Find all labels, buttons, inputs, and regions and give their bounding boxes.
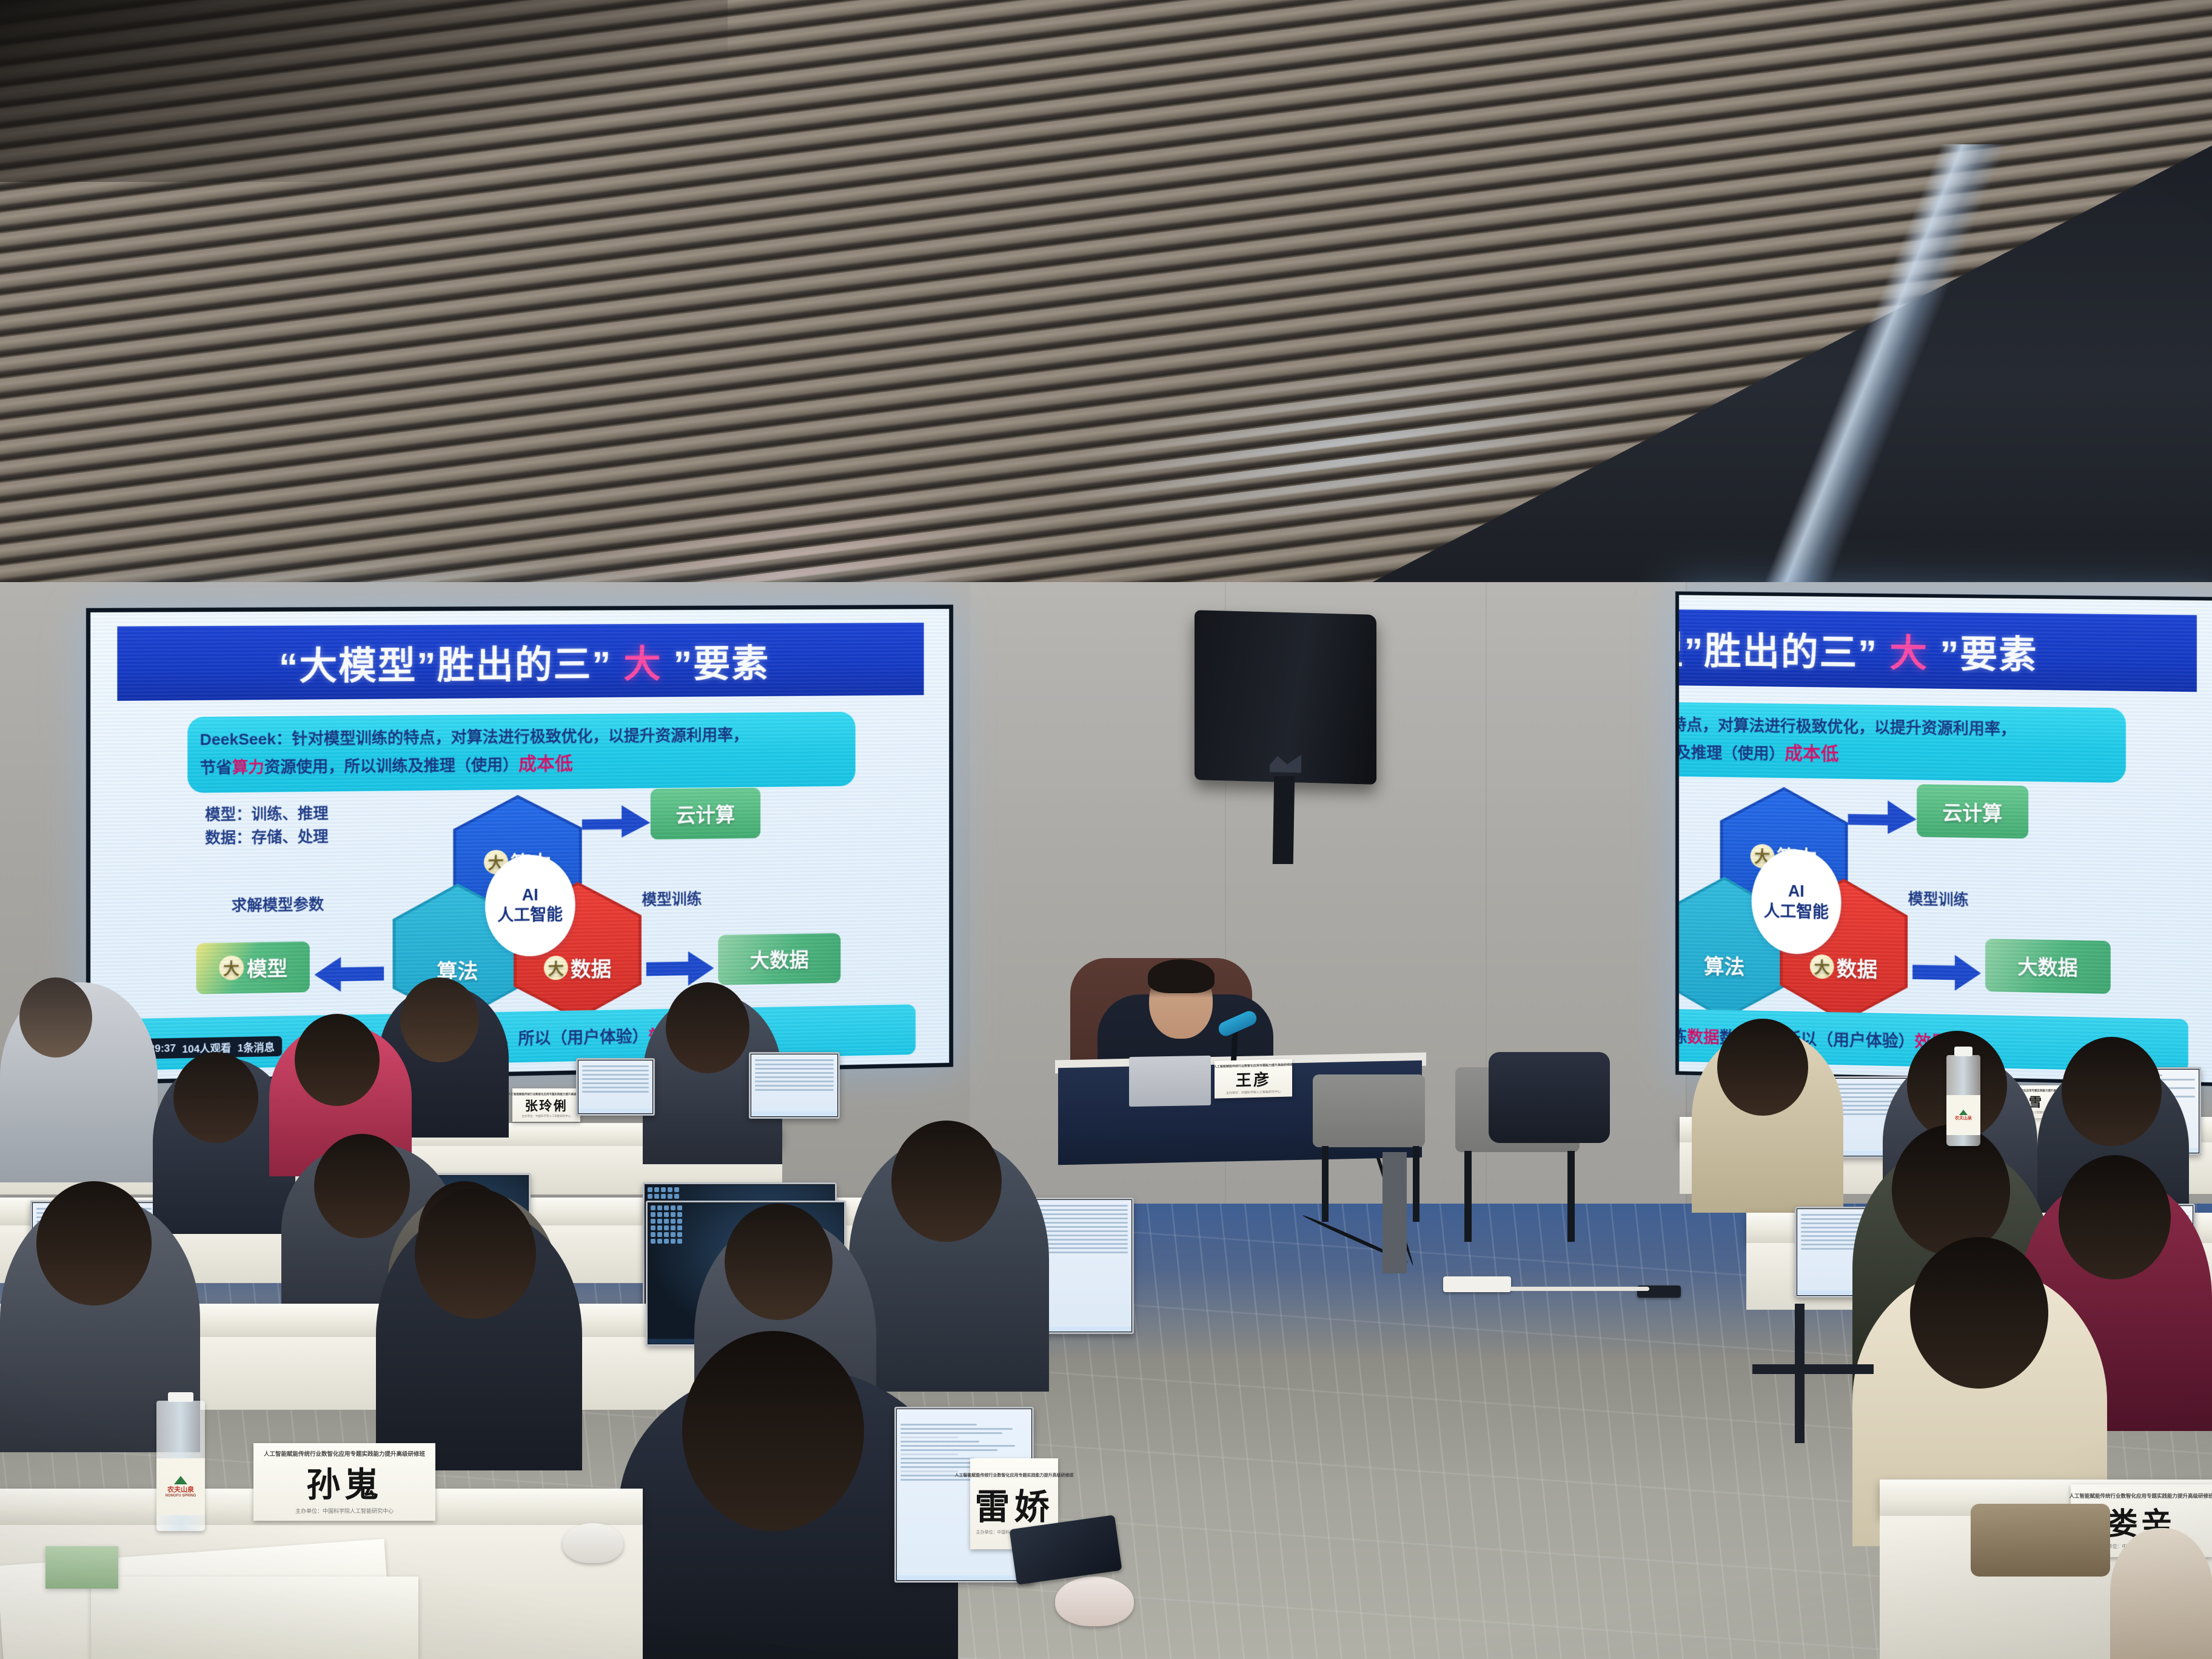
laptop-taskbar xyxy=(897,1575,1031,1580)
chair-leg xyxy=(1567,1151,1575,1242)
desktop-icon-grid[interactable] xyxy=(651,1205,682,1244)
slide-title-bar-right: “大模型”胜出的三” 大 ”要素 xyxy=(1675,606,2197,692)
projection-screen-right: “大模型”胜出的三” 大 ”要素 DeekSeek：针对模型训练的特点，对算法进… xyxy=(1675,591,2212,1086)
slide-title-right: “大模型”胜出的三” 大 ”要素 xyxy=(1675,619,2037,679)
arrow-to-cloud xyxy=(582,796,651,838)
callout-line-1: DeekSeek：针对模型训练的特点，对算法进行极致优化，以提升资源利用率， xyxy=(1675,711,2114,741)
center-ai-line2: 人工智能 xyxy=(497,905,563,927)
name-card-foreground: 人工智能赋能传统行业数智化应用专题实践能力提升高级研修班 孙嵬 主办单位：中国科… xyxy=(253,1443,435,1521)
slide-note-line-1: 模型：训练、推理 xyxy=(205,804,328,826)
soffit-highlight-edge xyxy=(1302,144,2212,617)
name-card-name: 孙嵬 xyxy=(306,1458,382,1507)
bottom-bold1: 数据 xyxy=(1687,1028,1719,1047)
slide-title-prefix: “大模型”胜出的三 xyxy=(1675,629,1858,674)
attendee-head xyxy=(400,977,479,1062)
bottle-brand: 农夫山泉 xyxy=(1955,1115,1972,1121)
slide-title-bar: “大模型”胜出的三” 大 ”要素 xyxy=(117,623,924,701)
hex-data-label: 大 数据 xyxy=(1810,952,1877,983)
da-chip-icon: 大 xyxy=(219,956,244,980)
arrow-to-cloud xyxy=(1848,790,1917,834)
hex-algorithm-label: 算法 xyxy=(1704,950,1744,980)
name-card-org: 主办单位：中国科学院人工智能研究中心 xyxy=(522,1114,571,1118)
chair-frame xyxy=(1752,1364,1874,1374)
slide-title-suffix: ”要素 xyxy=(1940,634,2037,677)
slide-callout-box-right: DeekSeek：针对模型训练的特点，对算法进行极致优化，以提升资源利用率， 节… xyxy=(1675,699,2126,783)
bottom-a: 大、训练 xyxy=(1675,1027,1687,1046)
name-card-name: 张玲俐 xyxy=(525,1096,568,1114)
attendee-head xyxy=(36,1181,152,1305)
callout-l2-b: 资源使用，所以训练及推理（使用） xyxy=(264,756,518,776)
attendee-head xyxy=(173,1052,258,1143)
power-strip xyxy=(1443,1276,1511,1292)
ceiling-shadow-left xyxy=(0,0,728,182)
computer-mouse[interactable] xyxy=(1055,1577,1134,1626)
attendee xyxy=(2110,1528,2212,1659)
name-card-event: 人工智能赋能传统行业数智化应用专题实践能力提升高级研修班 xyxy=(955,1472,1074,1478)
attendee-head xyxy=(295,1014,380,1106)
tag-big-data: 大数据 xyxy=(718,933,840,985)
bottle-cap xyxy=(168,1392,193,1402)
slide-title-highlight: 大 xyxy=(1889,633,1928,675)
callout-l2-bold2: 成本低 xyxy=(1785,743,1838,764)
laptop-screen xyxy=(751,1054,837,1116)
handout-page xyxy=(91,1577,418,1659)
power-cable xyxy=(1510,1287,1649,1291)
seminar-room-photo: “大模型”胜出的三” 大 ”要素 DeekSeek：针对模型训练的特点，对算法进… xyxy=(0,0,2212,1659)
water-bottle[interactable]: 农夫山泉 xyxy=(1946,1055,1980,1146)
laptop[interactable] xyxy=(749,1052,840,1119)
attendee-head xyxy=(415,1188,536,1319)
attendee-head xyxy=(2059,1155,2171,1279)
center-ai-line1: AI xyxy=(1788,881,1805,902)
name-card-name: 王彦 xyxy=(1236,1067,1271,1091)
wooden-chair xyxy=(1971,1504,2110,1577)
slide-title-suffix: ”要素 xyxy=(674,643,770,685)
da-chip-icon: 大 xyxy=(1810,954,1834,979)
center-ai-node: AI 人工智能 xyxy=(1752,848,1842,955)
attendee-head xyxy=(1717,1019,1808,1116)
speaker-mount-pole xyxy=(1273,776,1295,864)
slide-title-prefix: “大模型”胜出的三 xyxy=(279,644,592,688)
laptop[interactable] xyxy=(576,1058,655,1116)
name-card-name: 雷娇 xyxy=(975,1478,1054,1529)
trash-bin xyxy=(1382,1152,1407,1273)
name-card-org: 主办单位：中国科学院人工智能研究中心 xyxy=(295,1507,394,1515)
center-ai-line2: 人工智能 xyxy=(1764,901,1829,923)
callout-line-2: 节省算力资源使用，所以训练及推理（使用）成本低 xyxy=(200,749,844,780)
bottle-cap xyxy=(1954,1047,1972,1056)
arrow-to-model xyxy=(315,956,384,992)
attendee-head xyxy=(2062,1037,2162,1146)
computer-mouse[interactable] xyxy=(563,1523,623,1563)
slide-note-line-2: 数据：存储、处理 xyxy=(205,827,328,850)
bottle-label: 农夫山泉 xyxy=(1946,1095,1980,1135)
edge-label-right: 模型训练 xyxy=(1908,890,1969,911)
laptop-screen xyxy=(578,1061,652,1113)
name-card: 人工智能赋能传统行业数智化应用专题实践能力提升高级研修班 张玲俐 主办单位：中国… xyxy=(512,1088,580,1122)
slide-title: “大模型”胜出的三” 大 ”要素 xyxy=(279,633,769,691)
chair-leg xyxy=(1413,1146,1419,1222)
callout-l2-bold2: 成本低 xyxy=(518,754,573,774)
hex-data-label: 大 数据 xyxy=(544,952,611,983)
arrow-to-bigdata xyxy=(1912,954,1981,991)
attendee-head xyxy=(666,982,749,1073)
callout-line-1: DeekSeek：针对模型训练的特点，对算法进行极致优化，以提升资源利用率， xyxy=(200,724,844,751)
presenter-name-card: 人工智能赋能传统行业数智化应用专题能力提升高级研修班 王彦 主办单位：中国科学院… xyxy=(1215,1059,1292,1098)
tag-cloud-computing: 云计算 xyxy=(650,788,760,839)
mountain-logo-icon xyxy=(174,1476,187,1484)
callout-l2-a: 节省 xyxy=(200,759,232,777)
presenter-laptop xyxy=(1129,1056,1211,1107)
wall-speaker xyxy=(1195,610,1376,785)
callout-brand: DeekSeek xyxy=(200,729,276,748)
slide-canvas-left: “大模型”胜出的三” 大 ”要素 DeekSeek：针对模型训练的特点，对算法进… xyxy=(90,609,949,1081)
side-armchair xyxy=(1313,1074,1425,1147)
mountain-logo-icon xyxy=(1959,1110,1968,1115)
name-card-event: 人工智能赋能传统行业数智化应用专题实践能力提升高级研修班 xyxy=(508,1093,585,1096)
callout-line-2: 节省算力资源使用，所以训练及推理（使用）成本低 xyxy=(1675,737,2114,771)
tag-big-model: 大 模型 xyxy=(196,941,310,994)
speaker-logo-icon xyxy=(1270,754,1301,773)
bottle-brand: 农夫山泉 xyxy=(167,1484,194,1494)
callout-l2-b: 资源使用，所以训练及推理（使用） xyxy=(1675,741,1785,763)
name-card-event: 人工智能赋能传统行业数智化应用专题实践能力提升高级研修班 xyxy=(2070,1492,2212,1500)
attendee-head xyxy=(725,1204,833,1320)
chair-leg xyxy=(1322,1146,1329,1222)
callout-line-1-text: ：针对模型训练的特点，对算法进行极致优化，以提升资源利用率， xyxy=(276,726,749,748)
green-folder xyxy=(45,1546,118,1589)
da-chip-icon: 大 xyxy=(544,956,568,980)
attendee-head xyxy=(1910,1237,2048,1389)
tag-model-text: 模型 xyxy=(247,953,287,983)
attendee-head xyxy=(682,1331,864,1531)
callout-l2-bold1: 算力 xyxy=(232,758,264,777)
water-bottle[interactable]: 农夫山泉 NONGFU SPRING xyxy=(156,1401,205,1531)
edge-label-left: 求解模型参数 xyxy=(232,894,324,916)
slide-title-highlight: 大 xyxy=(623,643,662,685)
slide-callout-box: DeekSeek：针对模型训练的特点，对算法进行极致优化，以提升资源利用率， 节… xyxy=(187,712,856,793)
bottle-brand-en: NONGFU SPRING xyxy=(166,1494,196,1498)
callout-line-1-text: ：针对模型训练的特点，对算法进行极致优化，以提升资源利用率， xyxy=(1675,714,2016,738)
hex-right-text: 数据 xyxy=(1837,952,1878,982)
slide-canvas-right: “大模型”胜出的三” 大 ”要素 DeekSeek：针对模型训练的特点，对算法进… xyxy=(1675,592,2212,1082)
projection-screen-left: “大模型”胜出的三” 大 ”要素 DeekSeek：针对模型训练的特点，对算法进… xyxy=(86,605,953,1085)
arrow-to-bigdata xyxy=(646,951,714,987)
tag-cloud-computing: 云计算 xyxy=(1917,784,2028,839)
hex-right-text: 数据 xyxy=(571,952,612,982)
meeting-messages: 1条消息 xyxy=(238,1039,275,1054)
bottle-label: 农夫山泉 NONGFU SPRING xyxy=(156,1458,205,1516)
laptop-taskbar xyxy=(578,1108,652,1113)
name-card-org: 主办单位：中国科学院人工智能研究中心 xyxy=(1226,1089,1281,1094)
backpack xyxy=(1489,1052,1610,1143)
attendee-head xyxy=(314,1134,410,1238)
name-card-event: 人工智能赋能传统行业数智化应用专题实践能力提升高级研修班 xyxy=(264,1449,425,1458)
laptop-taskbar xyxy=(751,1111,837,1116)
presenter-hair xyxy=(1148,959,1215,993)
center-ai-line1: AI xyxy=(522,885,538,905)
attendee-head xyxy=(891,1121,1002,1242)
attendee-head xyxy=(19,977,92,1057)
chair-leg xyxy=(1464,1151,1472,1242)
tag-big-data: 大数据 xyxy=(1985,939,2110,994)
edge-label-right: 模型训练 xyxy=(642,890,702,911)
